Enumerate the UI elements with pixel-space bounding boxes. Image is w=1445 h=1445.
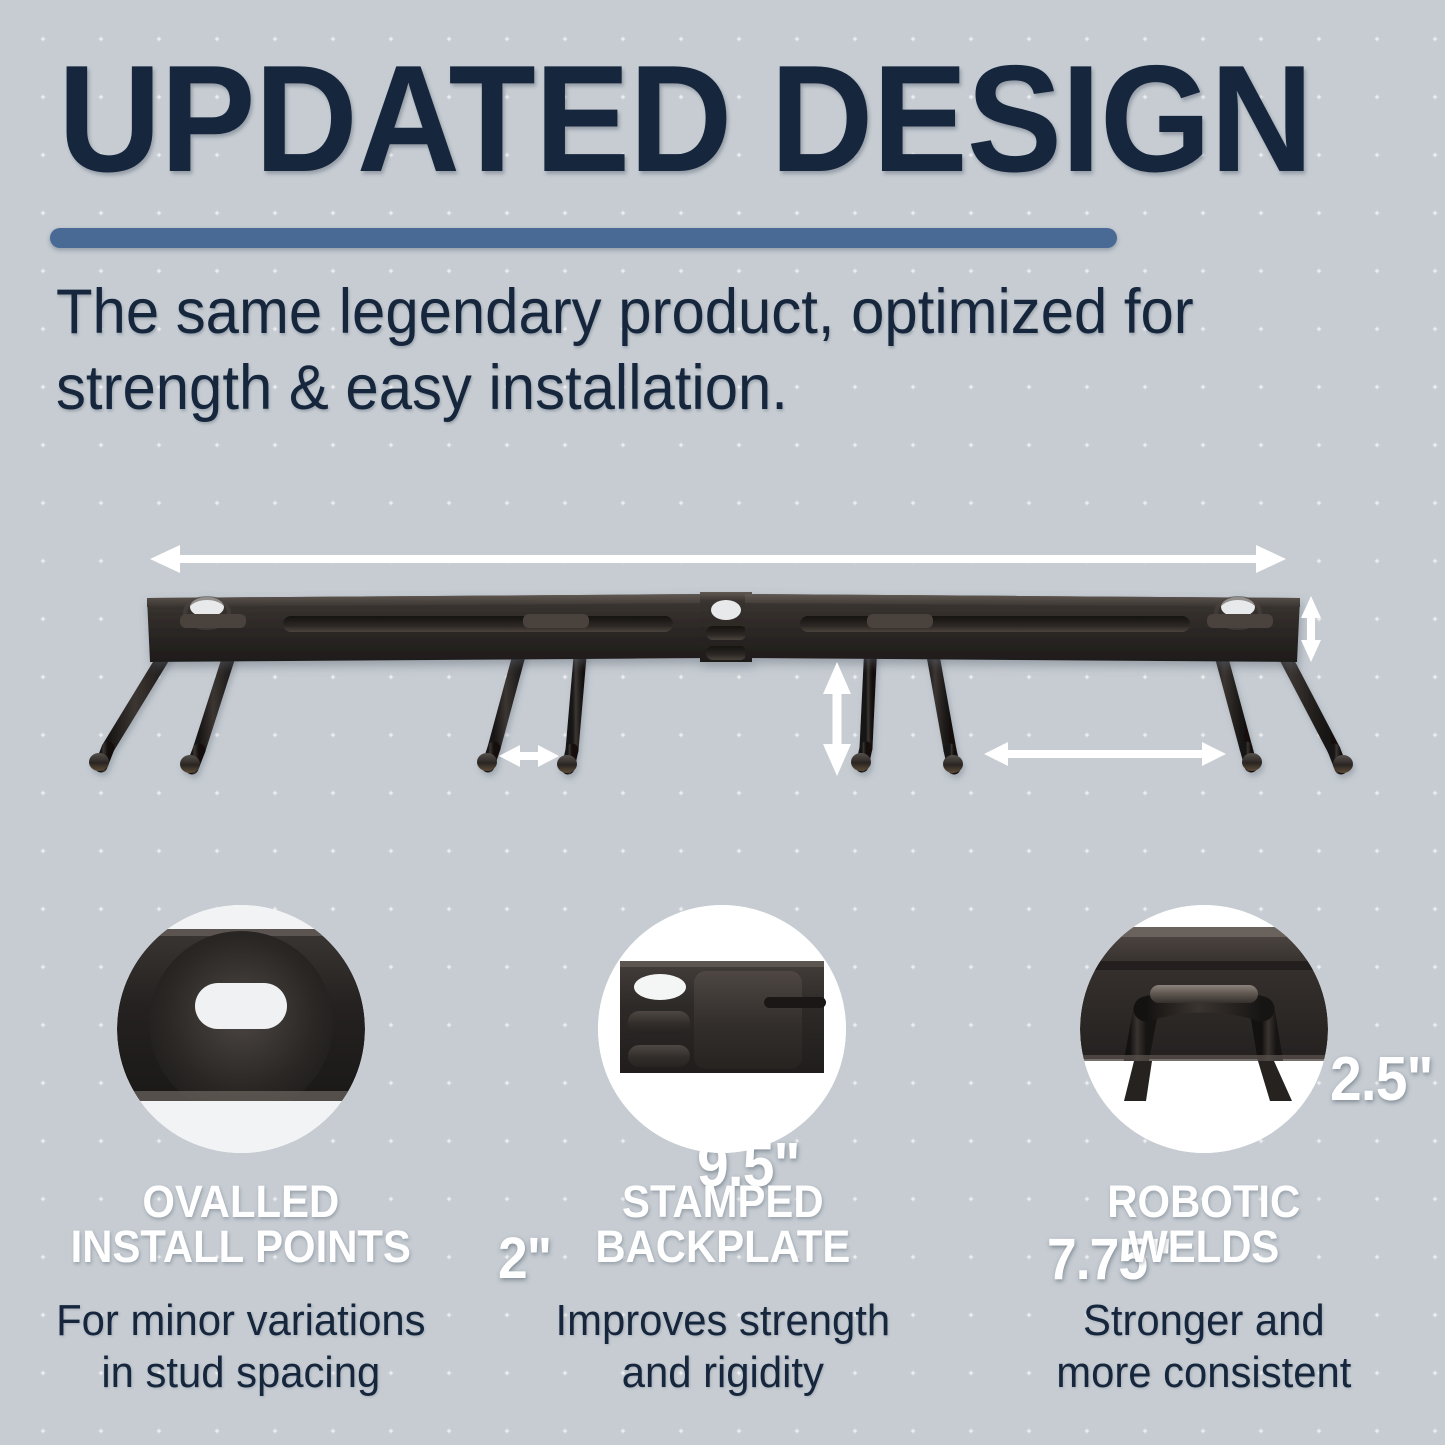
feature-title: OVALLED INSTALL POINTS [17, 1179, 465, 1269]
stamped-boss [694, 971, 802, 1069]
oval-hole [195, 983, 287, 1029]
stamped-backplate-closeup-icon [598, 905, 846, 1153]
feature-title-line2: BACKPLATE [498, 1224, 946, 1269]
stamped-slot [764, 997, 826, 1008]
feature-title: ROBOTIC WELDS [980, 1179, 1428, 1269]
feature-caption-line1: Stronger and [975, 1295, 1433, 1347]
page-title: UPDATED DESIGN [58, 44, 1318, 194]
product-diagram: 36" 2.5" 9.5" 2" 7.75" [0, 450, 1445, 880]
feature-title-line2: WELDS [980, 1224, 1428, 1269]
product-illustration [0, 450, 1445, 880]
robotic-weld-closeup-icon [1080, 905, 1328, 1153]
feature-caption-line2: and rigidity [494, 1347, 952, 1399]
feature-caption-line2: in stud spacing [12, 1347, 470, 1399]
feature-title: STAMPED BACKPLATE [498, 1179, 946, 1269]
feature-caption-line1: Improves strength [494, 1295, 952, 1347]
stamped-rib-center-1 [706, 626, 747, 640]
title-divider-rule [50, 228, 1117, 248]
weld-bead [1150, 985, 1258, 1003]
feature-title-line1: ROBOTIC [980, 1179, 1428, 1224]
backplate [147, 592, 1300, 662]
feature-caption: For minor variations in stud spacing [12, 1295, 470, 1399]
feature-robotic-welds: ROBOTIC WELDS Stronger and more consiste… [963, 905, 1445, 1425]
ovalled-install-hole-center [711, 600, 741, 620]
dimension-arrow-36in [150, 545, 1286, 573]
feature-caption: Stronger and more consistent [975, 1295, 1433, 1399]
oval-hole [634, 974, 686, 1000]
dimension-arrow-7_75in [984, 742, 1226, 766]
stamped-rib-left [283, 616, 673, 632]
backplate-center-bracket [700, 592, 752, 662]
feature-title-line1: OVALLED [17, 1179, 465, 1224]
stamped-rib-center-2 [706, 646, 747, 660]
feature-ovalled-install-points: OVALLED INSTALL POINTS For minor variati… [0, 905, 482, 1425]
dimension-arrow-2_5in [1301, 596, 1321, 662]
ovalled-install-point-closeup-icon [117, 905, 365, 1153]
dimension-arrow-9_5in [823, 662, 851, 776]
stamped-rib-1 [628, 1011, 690, 1033]
feature-list: OVALLED INSTALL POINTS For minor variati… [0, 905, 1445, 1425]
stamped-rib-right [800, 616, 1190, 632]
feature-title-line1: STAMPED [498, 1179, 946, 1224]
feature-caption-line2: more consistent [975, 1347, 1433, 1399]
feature-caption: Improves strength and rigidity [494, 1295, 952, 1399]
dimension-arrow-2in [499, 745, 559, 767]
feature-stamped-backplate: STAMPED BACKPLATE Improves strength and … [482, 905, 964, 1425]
feature-title-line2: INSTALL POINTS [17, 1224, 465, 1269]
stamped-rib-2 [628, 1045, 690, 1067]
page-subtitle: The same legendary product, optimized fo… [56, 274, 1320, 426]
feature-caption-line1: For minor variations [12, 1295, 470, 1347]
